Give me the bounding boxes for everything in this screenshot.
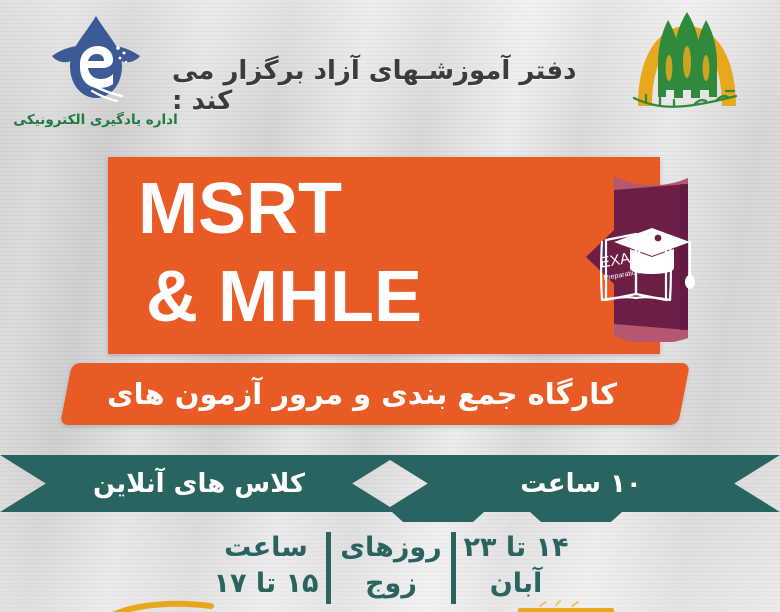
- main-title-line2: & MHLE: [138, 253, 538, 341]
- subtitle-text: کارگاه جمع بندی و مرور آزمون های: [60, 363, 678, 425]
- schedule-divider-1: [451, 532, 456, 604]
- schedule-col-days-line2: زوج: [331, 566, 451, 602]
- subtitle-banner: کارگاه جمع بندی و مرور آزمون های: [60, 363, 678, 425]
- schedule-divider-2: [326, 532, 331, 604]
- schedule-columns: ۱۴ تا ۲۳ آبان روزهای زوج ساعت ۱۵ تا ۱۷: [206, 528, 576, 612]
- elearning-drop-logo-icon: [8, 12, 183, 110]
- schedule-col-days: روزهای زوج: [331, 528, 451, 602]
- schedule-col-time-line1: ساعت: [206, 530, 326, 566]
- main-title-banner: MSRT & MHLE: [108, 157, 660, 354]
- schedule-col-days-line1: روزهای: [331, 530, 451, 566]
- elearning-logo-caption: اداره یادگیری الکترونیکی: [8, 112, 183, 128]
- exam-preparation-badge: EXAM Preparation: [580, 172, 695, 342]
- university-logo: [602, 6, 772, 141]
- main-title: MSRT & MHLE: [138, 165, 538, 341]
- schedule-col-dates: ۱۴ تا ۲۳ آبان: [456, 528, 576, 602]
- tarbiat-modares-wheat-logo-icon: [602, 6, 772, 110]
- schedule-info-row: ۱۴ تا ۲۳ آبان روزهای زوج ساعت ۱۵ تا ۱۷: [0, 512, 780, 612]
- main-title-line1: MSRT: [138, 165, 538, 253]
- schedule-col-time-line2: ۱۵ تا ۱۷: [206, 566, 326, 602]
- ribbon-class-mode-label: کلاس های آنلاین: [0, 455, 398, 512]
- teal-ribbon-row: ۱۰ ساعت کلاس های آنلاین: [0, 455, 780, 512]
- poster-canvas: اداره یادگیری الکترونیکی دفتر آموزشـهای …: [0, 0, 780, 612]
- schedule-col-time: ساعت ۱۵ تا ۱۷: [206, 528, 326, 602]
- tab-notch-right: [530, 512, 622, 522]
- elearning-logo: اداره یادگیری الکترونیکی: [8, 12, 183, 137]
- header-announcement-text: دفتر آموزشـهای آزاد برگزار می کند :: [172, 56, 602, 116]
- tab-notch-left: [392, 512, 484, 522]
- ribbon-duration: ۱۰ ساعت: [382, 455, 780, 512]
- schedule-col-dates-line2: آبان: [456, 566, 576, 602]
- ribbon-class-mode: کلاس های آنلاین: [0, 455, 398, 512]
- schedule-col-dates-line1: ۱۴ تا ۲۳: [456, 530, 576, 566]
- ribbon-duration-label: ۱۰ ساعت: [382, 455, 780, 512]
